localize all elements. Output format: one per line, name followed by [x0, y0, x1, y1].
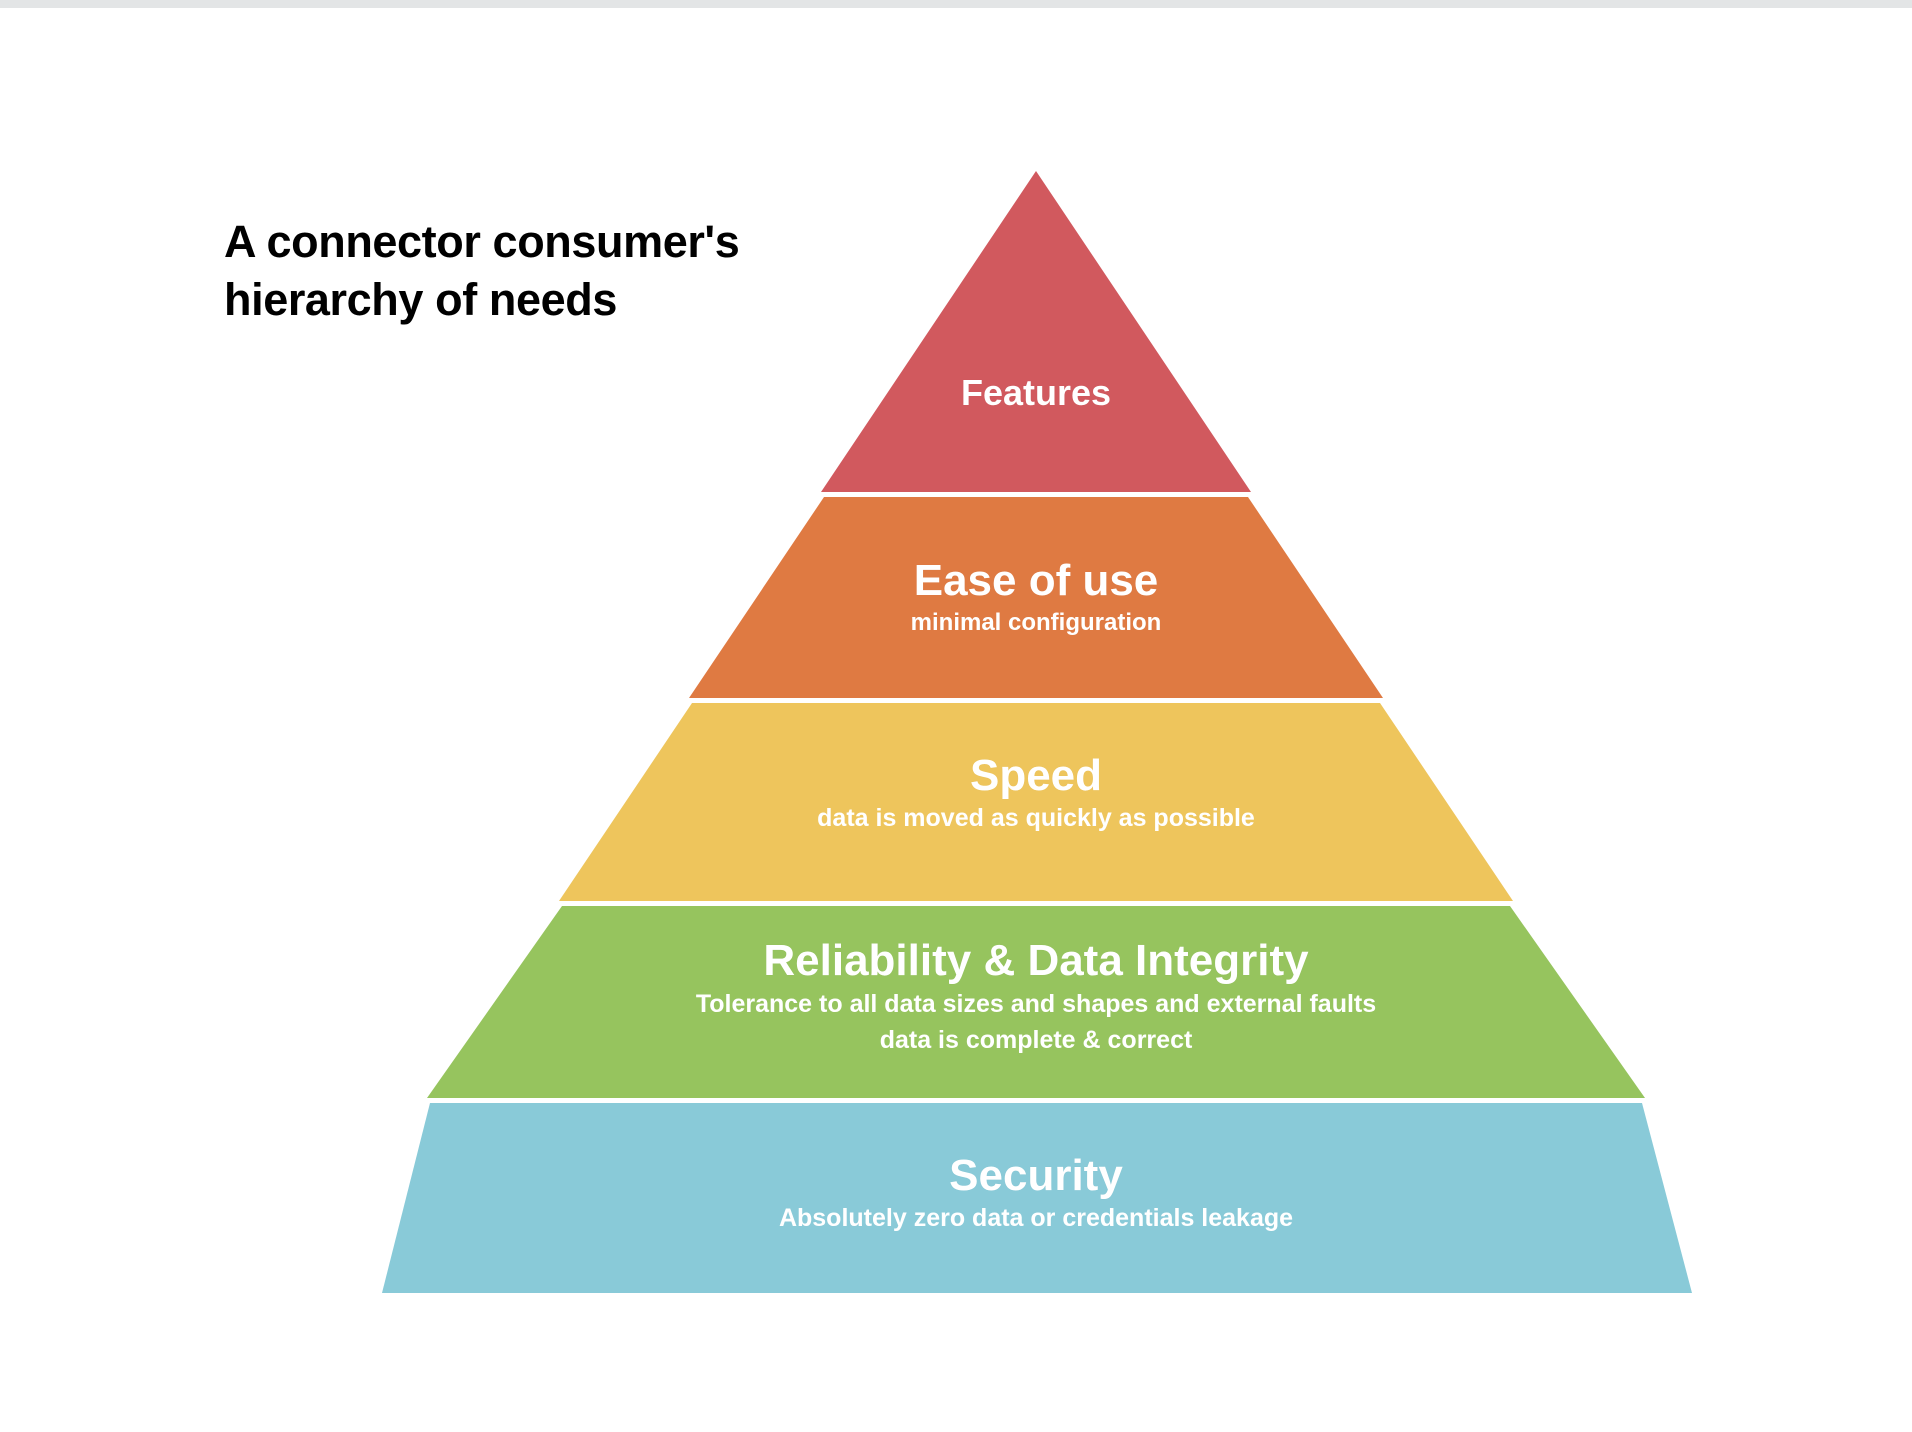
pyramid-chart [0, 8, 1912, 1432]
pyramid-tier-5-shape[interactable] [382, 1103, 1692, 1293]
pyramid-tier-1-shape[interactable] [821, 171, 1251, 492]
pyramid-tier-3-shape[interactable] [559, 703, 1513, 901]
pyramid-tier-2-shape[interactable] [689, 497, 1383, 698]
pyramid-tier-4-shape[interactable] [427, 906, 1645, 1098]
slide-canvas: A connector consumer's hierarchy of need… [0, 8, 1912, 1432]
